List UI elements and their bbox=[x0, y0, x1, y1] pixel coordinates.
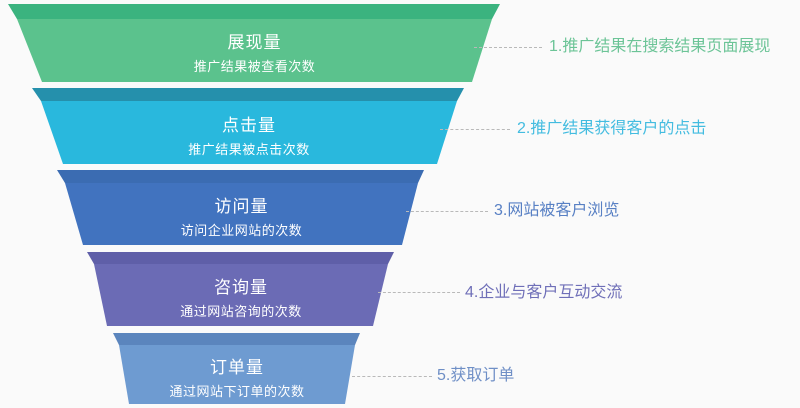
funnel-stage-4-top-edge bbox=[87, 252, 394, 264]
connector-line-2 bbox=[440, 129, 510, 130]
funnel-callout-3: 3.网站被客户浏览 bbox=[494, 203, 619, 219]
funnel-stage-3-shape[interactable] bbox=[57, 170, 424, 245]
connector-line-3 bbox=[406, 211, 488, 212]
funnel-stage-1-top-edge bbox=[8, 4, 500, 19]
connector-line-4 bbox=[378, 292, 460, 293]
funnel-stage-1-shape[interactable] bbox=[8, 4, 500, 82]
funnel-stage-5-shape[interactable] bbox=[113, 333, 360, 404]
funnel-stage-4-shape[interactable] bbox=[87, 252, 394, 326]
connector-line-5 bbox=[352, 376, 432, 377]
funnel-shapes-svg bbox=[0, 0, 800, 408]
funnel-callout-2: 2.推广结果获得客户的点击 bbox=[517, 121, 706, 137]
funnel-stage-2-top-edge bbox=[32, 88, 464, 101]
funnel-callout-1: 1.推广结果在搜索结果页面展现 bbox=[549, 39, 770, 55]
funnel-diagram: 展现量 推广结果被查看次数 点击量 推广结果被点击次数 访问量 访问企业网站的次… bbox=[0, 0, 800, 408]
funnel-stage-3-body bbox=[65, 183, 418, 245]
funnel-stage-3-top-edge bbox=[57, 170, 424, 183]
funnel-stage-5-top-edge bbox=[113, 333, 360, 345]
funnel-stage-2-body bbox=[41, 101, 457, 164]
funnel-stage-1-body bbox=[17, 19, 492, 82]
funnel-stage-5-body bbox=[119, 345, 355, 404]
funnel-callout-5: 5.获取订单 bbox=[437, 368, 514, 384]
funnel-callout-4: 4.企业与客户互动交流 bbox=[465, 285, 622, 301]
funnel-stage-2-shape[interactable] bbox=[32, 88, 464, 164]
funnel-stage-4-body bbox=[94, 264, 388, 326]
connector-line-1 bbox=[474, 47, 542, 48]
